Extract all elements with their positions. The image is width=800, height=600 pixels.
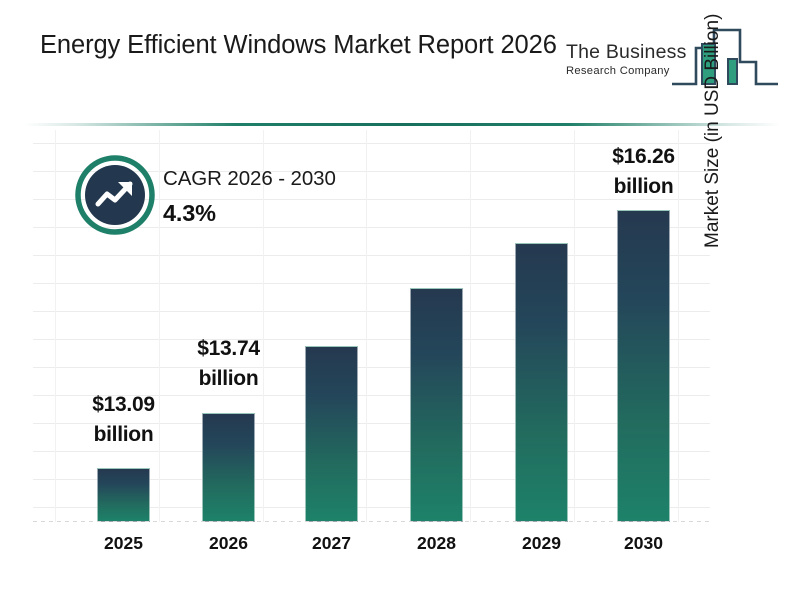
company-logo: The Business Research Company [562, 26, 784, 104]
bar-2030[interactable] [617, 210, 670, 522]
cagr-period-label: CAGR 2026 - 2030 [163, 166, 336, 192]
title-block: Energy Efficient Windows Market Report 2… [40, 28, 560, 62]
cagr-badge-icon [75, 155, 155, 235]
x-tick-2027: 2027 [281, 533, 382, 554]
y-axis-title: Market Size (in USD Billion) [702, 218, 724, 248]
gridline [33, 283, 710, 284]
bar-value-label-2030: $16.26 billion [573, 142, 714, 202]
bar-value-label-2025: $13.09 billion [53, 390, 194, 450]
vertical-gridline [159, 130, 160, 522]
cagr-value-label: 4.3% [163, 198, 336, 228]
x-tick-2029: 2029 [491, 533, 592, 554]
axis-baseline [33, 521, 710, 522]
x-tick-2026: 2026 [178, 533, 279, 554]
x-tick-2028: 2028 [386, 533, 487, 554]
bar-value-label-2026: $13.74 billion [158, 334, 299, 394]
gridline [33, 255, 710, 256]
x-tick-2025: 2025 [73, 533, 174, 554]
bar-2028[interactable] [410, 288, 463, 522]
x-tick-2030: 2030 [593, 533, 694, 554]
gridline [33, 451, 710, 452]
chart-canvas: Energy Efficient Windows Market Report 2… [0, 0, 800, 600]
bar-chart-logo-mark-icon [670, 26, 780, 101]
vertical-gridline [366, 130, 367, 522]
page-title: Energy Efficient Windows Market Report 2… [40, 28, 560, 62]
header-divider [24, 123, 780, 126]
gridline [33, 367, 710, 368]
bar-2029[interactable] [515, 243, 568, 522]
bar-2027[interactable] [305, 346, 358, 522]
vertical-gridline [470, 130, 471, 522]
bar-2026[interactable] [202, 413, 255, 522]
bar-2025[interactable] [97, 468, 150, 522]
gridline [33, 339, 710, 340]
vertical-gridline [55, 130, 56, 522]
gridline [33, 311, 710, 312]
cagr-text-block: CAGR 2026 - 2030 4.3% [163, 166, 336, 228]
